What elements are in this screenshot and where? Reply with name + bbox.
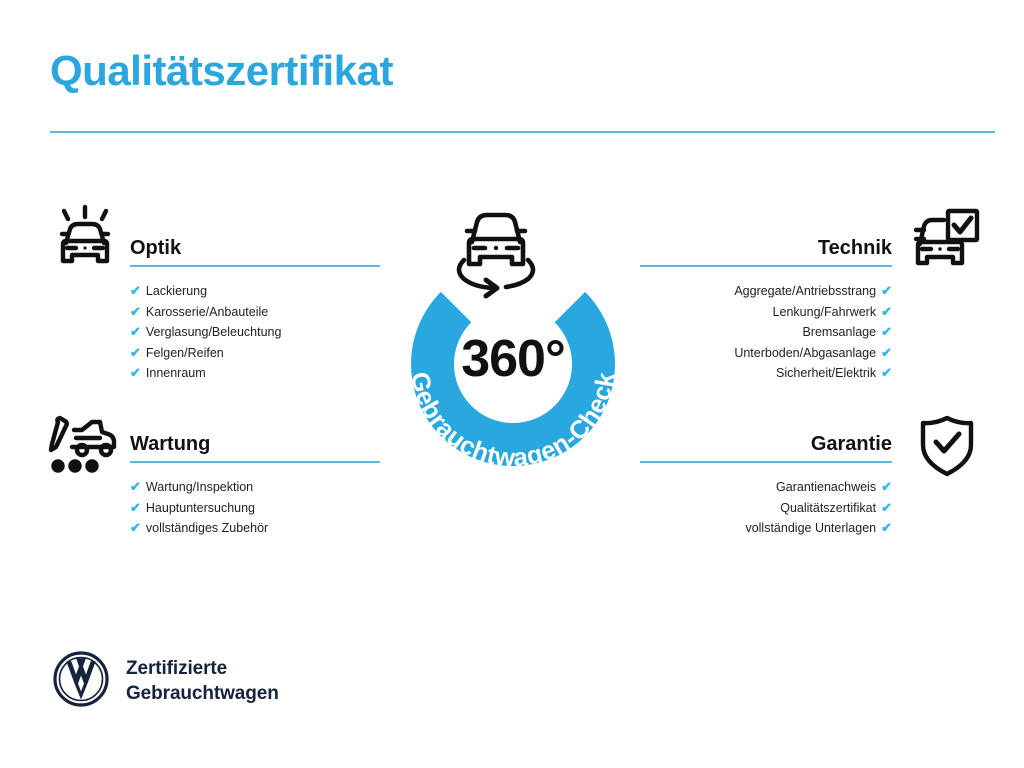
list-item-label: Felgen/Reifen: [146, 346, 224, 360]
list-item: Aggregate/Antriebsstrang✔: [640, 281, 892, 302]
page-title: Qualitätszertifikat: [50, 48, 393, 94]
check-icon: ✔: [130, 283, 141, 298]
check-icon: ✔: [881, 520, 892, 535]
list-item: Unterboden/Abgasanlage✔: [640, 343, 892, 364]
list-item: ✔Innenraum: [130, 363, 380, 384]
list-item-label: Aggregate/Antriebsstrang: [734, 284, 876, 298]
pen-car-service-icon: [48, 414, 122, 483]
list-item-label: Hauptuntersuchung: [146, 501, 255, 515]
list-item-label: Unterboden/Abgasanlage: [734, 346, 876, 360]
section-divider-wartung: [130, 461, 380, 463]
car-front-shine-icon: [48, 203, 122, 280]
section-divider-technik: [640, 265, 892, 267]
check-icon: ✔: [130, 500, 141, 515]
list-item: Qualitätszertifikat✔: [640, 498, 892, 519]
checklist-garantie: Garantienachweis✔ Qualitätszertifikat✔ v…: [640, 477, 892, 539]
footer-brand-text: Zertifizierte Gebrauchtwagen: [126, 657, 279, 706]
section-heading-garantie: Garantie: [640, 434, 892, 459]
section-garantie: Garantie Garantienachweis✔ Qualitätszert…: [640, 434, 892, 539]
check-icon: ✔: [881, 304, 892, 319]
list-item-label: Bremsanlage: [802, 325, 876, 339]
list-item: ✔Felgen/Reifen: [130, 343, 380, 364]
list-item-label: Karosserie/Anbauteile: [146, 305, 268, 319]
section-optik: Optik ✔Lackierung ✔Karosserie/Anbauteile…: [130, 238, 380, 384]
checklist-wartung: ✔Wartung/Inspektion ✔Hauptuntersuchung ✔…: [130, 477, 380, 539]
check-icon: ✔: [130, 520, 141, 535]
car-checkbox-icon: [908, 208, 980, 277]
list-item: Lenkung/Fahrwerk✔: [640, 302, 892, 323]
list-item-label: Lackierung: [146, 284, 207, 298]
check-icon: ✔: [881, 345, 892, 360]
section-heading-technik: Technik: [640, 238, 892, 263]
list-item-label: Lenkung/Fahrwerk: [773, 305, 877, 319]
list-item: vollständige Unterlagen✔: [640, 518, 892, 539]
list-item: Bremsanlage✔: [640, 322, 892, 343]
list-item: Garantienachweis✔: [640, 477, 892, 498]
list-item-label: Garantienachweis: [776, 480, 876, 494]
car-rotate-360-icon: [459, 215, 533, 296]
list-item-label: vollständiges Zubehör: [146, 521, 268, 535]
list-item-label: Sicherheit/Elektrik: [776, 366, 876, 380]
check-icon: ✔: [130, 345, 141, 360]
section-wartung: Wartung ✔Wartung/Inspektion ✔Hauptunters…: [130, 434, 380, 539]
check-icon: ✔: [130, 479, 141, 494]
section-divider-optik: [130, 265, 380, 267]
shield-check-icon: [917, 414, 977, 483]
section-divider-garantie: [640, 461, 892, 463]
footer-brand: Zertifizierte Gebrauchtwagen: [52, 650, 279, 713]
certificate-page: Qualitätszertifikat: [0, 0, 1024, 768]
list-item-label: Qualitätszertifikat: [780, 501, 876, 515]
list-item-label: Innenraum: [146, 366, 206, 380]
list-item: ✔Lackierung: [130, 281, 380, 302]
section-heading-wartung: Wartung: [130, 434, 380, 459]
list-item: Sicherheit/Elektrik✔: [640, 363, 892, 384]
list-item-label: Verglasung/Beleuchtung: [146, 325, 282, 339]
check-icon: ✔: [881, 283, 892, 298]
check-icon: ✔: [881, 365, 892, 380]
list-item-label: vollständige Unterlagen: [745, 521, 876, 535]
footer-brand-line1: Zertifizierte: [126, 657, 279, 681]
section-heading-optik: Optik: [130, 238, 380, 263]
check-icon: ✔: [881, 479, 892, 494]
badge-360-gebrauchtwagen-check: Gebrauchtwagen-Check 360°: [378, 196, 648, 496]
section-technik: Technik Aggregate/Antriebsstrang✔ Lenkun…: [640, 238, 892, 384]
footer-brand-line2: Gebrauchtwagen: [126, 682, 279, 706]
check-icon: ✔: [130, 365, 141, 380]
checklist-optik: ✔Lackierung ✔Karosserie/Anbauteile ✔Verg…: [130, 281, 380, 384]
list-item: ✔Karosserie/Anbauteile: [130, 302, 380, 323]
vw-logo: [52, 650, 110, 713]
check-icon: ✔: [130, 324, 141, 339]
check-icon: ✔: [881, 324, 892, 339]
list-item-label: Wartung/Inspektion: [146, 480, 253, 494]
check-icon: ✔: [130, 304, 141, 319]
checklist-technik: Aggregate/Antriebsstrang✔ Lenkung/Fahrwe…: [640, 281, 892, 384]
list-item: ✔vollständiges Zubehör: [130, 518, 380, 539]
badge-center-label: 360°: [461, 330, 565, 388]
list-item: ✔Verglasung/Beleuchtung: [130, 322, 380, 343]
check-icon: ✔: [881, 500, 892, 515]
header-divider: [50, 131, 995, 133]
list-item: ✔Wartung/Inspektion: [130, 477, 380, 498]
list-item: ✔Hauptuntersuchung: [130, 498, 380, 519]
